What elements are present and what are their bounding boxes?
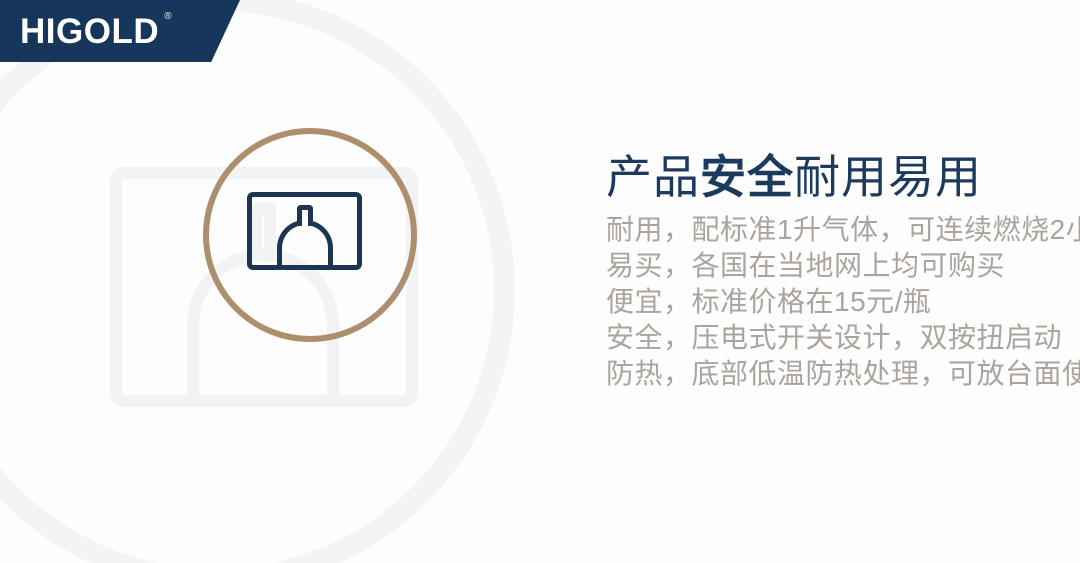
gas-burner-dome-icon — [247, 192, 362, 270]
brand-wordmark-text: HIGOLD — [20, 12, 159, 51]
burner-icon-nozzle — [297, 205, 313, 226]
copy-block: 产品安全耐用易用 耐用，配标准1升气体，可连续燃烧2小时 易买，各国在当地网上均… — [606, 150, 1076, 392]
page-title: 产品安全耐用易用 — [606, 150, 1076, 204]
list-item: 易买，各国在当地网上均可购买 — [606, 248, 1076, 284]
feature-list: 耐用，配标准1升气体，可连续燃烧2小时 易买，各国在当地网上均可购买 便宜，标准… — [606, 212, 1076, 392]
brand-logo-badge: HIGOLD ® — [0, 0, 240, 62]
list-item: 防热，底部低温防热处理，可放台面使用 — [606, 356, 1076, 392]
headline-part-1: 产品 — [606, 151, 700, 203]
headline-part-3: 耐用易用 — [794, 151, 982, 203]
brand-wordmark: HIGOLD ® — [20, 14, 159, 49]
slide-canvas: HIGOLD ® 产品安全耐用易用 耐用，配标准1升气体，可连续燃烧2小时 易买… — [0, 0, 1080, 563]
headline-part-2-emphasis: 安全 — [700, 151, 794, 203]
registered-trademark-icon: ® — [164, 12, 172, 22]
list-item: 便宜，标准价格在15元/瓶 — [606, 284, 1076, 320]
list-item: 耐用，配标准1升气体，可连续燃烧2小时 — [606, 212, 1076, 248]
list-item: 安全，压电式开关设计，双按扭启动 — [606, 320, 1076, 356]
burner-icon-dome — [277, 220, 333, 270]
